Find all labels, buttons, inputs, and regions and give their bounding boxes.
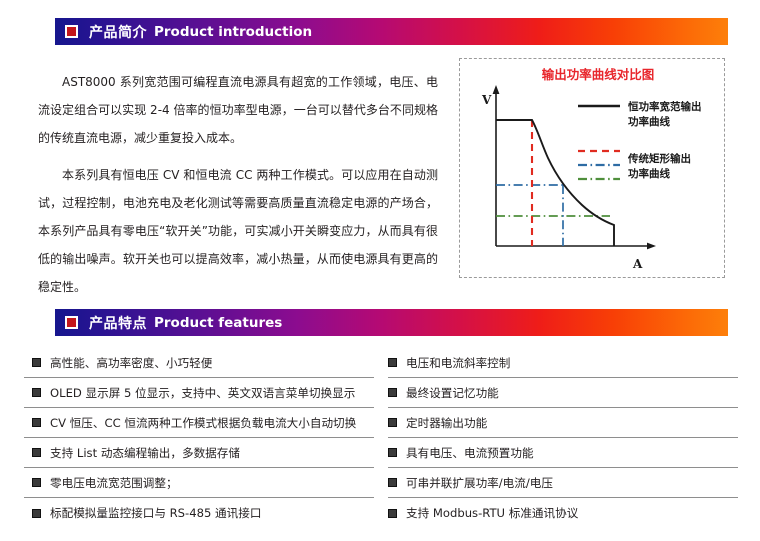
bullet-square-icon bbox=[32, 358, 41, 367]
legend-label-1-line2: 功率曲线 bbox=[628, 115, 670, 128]
section-title-en: Product features bbox=[154, 315, 282, 331]
chart-x-axis-label: A bbox=[632, 257, 643, 271]
feature-label: 支持 Modbus-RTU 标准通讯协议 bbox=[406, 505, 578, 521]
filled-square-icon bbox=[65, 25, 78, 38]
feature-label: 具有电压、电流预置功能 bbox=[406, 445, 534, 461]
feature-item: 具有电压、电流预置功能 bbox=[388, 438, 738, 468]
feature-item: CV 恒压、CC 恒流两种工作模式根据负载电流大小自动切换 bbox=[24, 408, 374, 438]
chart-legend: 恒功率宽范输出 功率曲线 传统矩形输出 功率曲线 bbox=[578, 100, 702, 180]
feature-label: 零电压电流宽范围调整； bbox=[50, 475, 178, 491]
feature-label: CV 恒压、CC 恒流两种工作模式根据负载电流大小自动切换 bbox=[50, 415, 356, 431]
section-header-features: 产品特点 Product features bbox=[55, 309, 728, 336]
legend-label-2-line2: 功率曲线 bbox=[628, 167, 670, 180]
feature-label: 定时器输出功能 bbox=[406, 415, 487, 431]
bullet-square-icon bbox=[388, 358, 397, 367]
bullet-square-icon bbox=[388, 448, 397, 457]
feature-label: 标配模拟量监控接口与 RS-485 通讯接口 bbox=[50, 505, 261, 521]
feature-label: 最终设置记忆功能 bbox=[406, 385, 499, 401]
section-title-cn: 产品特点 bbox=[89, 313, 147, 333]
legend-label-1-line1: 恒功率宽范输出 bbox=[628, 100, 702, 113]
intro-paragraph-1: AST8000 系列宽范围可编程直流电源具有超宽的工作领域，电压、电流设定组合可… bbox=[38, 68, 438, 152]
feature-item: 定时器输出功能 bbox=[388, 408, 738, 438]
bullet-square-icon bbox=[32, 418, 41, 427]
section-title-en: Product introduction bbox=[154, 24, 312, 40]
legend-label-2-line1: 传统矩形输出 bbox=[627, 152, 691, 165]
bullet-square-icon bbox=[32, 509, 41, 518]
feature-label: OLED 显示屏 5 位显示，支持中、英文双语言菜单切换显示 bbox=[50, 385, 355, 401]
bullet-square-icon bbox=[388, 478, 397, 487]
bullet-square-icon bbox=[32, 478, 41, 487]
feature-item: 可串并联扩展功率/电流/电压 bbox=[388, 468, 738, 498]
feature-label: 可串并联扩展功率/电流/电压 bbox=[406, 475, 553, 491]
feature-label: 高性能、高功率密度、小巧轻便 bbox=[50, 355, 212, 371]
features-grid: 高性能、高功率密度、小巧轻便 电压和电流斜率控制 OLED 显示屏 5 位显示，… bbox=[24, 348, 738, 528]
feature-item: 标配模拟量监控接口与 RS-485 通讯接口 bbox=[24, 498, 374, 528]
feature-label: 电压和电流斜率控制 bbox=[406, 355, 510, 371]
introduction-body: AST8000 系列宽范围可编程直流电源具有超宽的工作领域，电压、电流设定组合可… bbox=[38, 68, 438, 310]
power-curve-chart: 输出功率曲线对比图 V A 恒功率宽范输出 功率曲线 传统矩形输出 功 bbox=[460, 59, 724, 277]
bullet-square-icon bbox=[32, 388, 41, 397]
feature-item: 高性能、高功率密度、小巧轻便 bbox=[24, 348, 374, 378]
power-curve-chart-panel: 输出功率曲线对比图 V A 恒功率宽范输出 功率曲线 传统矩形输出 功 bbox=[459, 58, 725, 278]
chart-title: 输出功率曲线对比图 bbox=[542, 67, 655, 82]
chart-constant-power-curve bbox=[496, 120, 614, 246]
bullet-square-icon bbox=[388, 509, 397, 518]
chart-y-axis-label: V bbox=[481, 93, 492, 107]
bullet-square-icon bbox=[388, 388, 397, 397]
feature-item: 零电压电流宽范围调整； bbox=[24, 468, 374, 498]
filled-square-icon bbox=[65, 316, 78, 329]
feature-item: 支持 Modbus-RTU 标准通讯协议 bbox=[388, 498, 738, 528]
bullet-square-icon bbox=[32, 448, 41, 457]
bullet-square-icon bbox=[388, 418, 397, 427]
feature-item: OLED 显示屏 5 位显示，支持中、英文双语言菜单切换显示 bbox=[24, 378, 374, 408]
intro-paragraph-2: 本系列具有恒电压 CV 和恒电流 CC 两种工作模式。可以应用在自动测试，过程控… bbox=[38, 161, 438, 301]
feature-item: 最终设置记忆功能 bbox=[388, 378, 738, 408]
feature-label: 支持 List 动态编程输出，多数据存储 bbox=[50, 445, 240, 461]
section-title-cn: 产品简介 bbox=[89, 22, 147, 42]
section-header-introduction: 产品简介 Product introduction bbox=[55, 18, 728, 45]
feature-item: 支持 List 动态编程输出，多数据存储 bbox=[24, 438, 374, 468]
feature-item: 电压和电流斜率控制 bbox=[388, 348, 738, 378]
